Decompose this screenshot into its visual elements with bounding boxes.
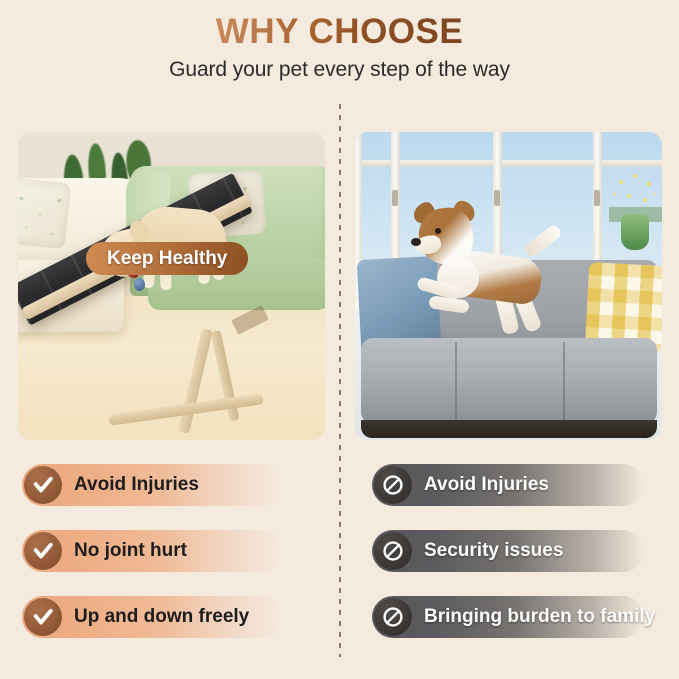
window-latch xyxy=(594,190,600,206)
prohibited-icon xyxy=(374,466,412,504)
why-choose-infographic: WHY CHOOSE Guard your pet every step of … xyxy=(0,0,679,679)
dog-eye xyxy=(435,228,441,234)
page-subtitle: Guard your pet every step of the way xyxy=(0,58,679,82)
hazard-label: Avoid Injuries xyxy=(424,474,549,496)
floral-pillow xyxy=(18,177,71,250)
check-icon xyxy=(24,532,62,570)
list-item: Avoid Injuries xyxy=(22,464,342,506)
list-item: Security issues xyxy=(372,530,679,572)
comparison-panels: Keep Healthy xyxy=(0,118,679,448)
panel-health-hazards: Health Hazards xyxy=(355,132,662,440)
window-transom xyxy=(355,160,662,167)
benefit-list: Avoid Injuries No joint hurt U xyxy=(22,464,342,662)
sofa-base-shadow xyxy=(361,420,657,438)
sofa-cushion-seam xyxy=(563,342,565,420)
hazard-label: Security issues xyxy=(424,540,563,562)
check-icon xyxy=(24,598,62,636)
check-icon xyxy=(24,466,62,504)
panel-keep-healthy: Keep Healthy xyxy=(18,132,325,440)
dog-leg xyxy=(428,295,469,313)
hazard-label: Bringing burden to family xyxy=(424,606,655,628)
list-item: Bringing burden to family xyxy=(372,596,679,638)
jack-russell-terrier xyxy=(395,200,570,345)
benefit-label: Avoid Injuries xyxy=(74,474,199,496)
dog-nose xyxy=(411,238,421,246)
hazard-list: Avoid Injuries Security issues xyxy=(372,464,679,662)
header: WHY CHOOSE Guard your pet every step of … xyxy=(0,0,679,82)
sofa-cushion-seam xyxy=(455,342,457,420)
prohibited-icon xyxy=(374,532,412,570)
benefit-label: Up and down freely xyxy=(74,606,249,628)
feature-comparison-lists: Avoid Injuries No joint hurt U xyxy=(0,464,679,664)
benefit-label: No joint hurt xyxy=(74,540,187,562)
grey-sofa-seat xyxy=(361,338,657,424)
green-vase xyxy=(621,214,649,250)
photo-dog-jumping-off-sofa xyxy=(355,132,662,440)
dog-tail xyxy=(523,223,563,259)
dog-collar-tag xyxy=(134,278,145,291)
page-title: WHY CHOOSE xyxy=(216,13,463,52)
list-item: Up and down freely xyxy=(22,596,342,638)
photo-dog-on-ramp xyxy=(18,132,325,440)
prohibited-icon xyxy=(374,598,412,636)
list-item: Avoid Injuries xyxy=(372,464,679,506)
badge-keep-healthy: Keep Healthy xyxy=(86,242,248,275)
list-item: No joint hurt xyxy=(22,530,342,572)
